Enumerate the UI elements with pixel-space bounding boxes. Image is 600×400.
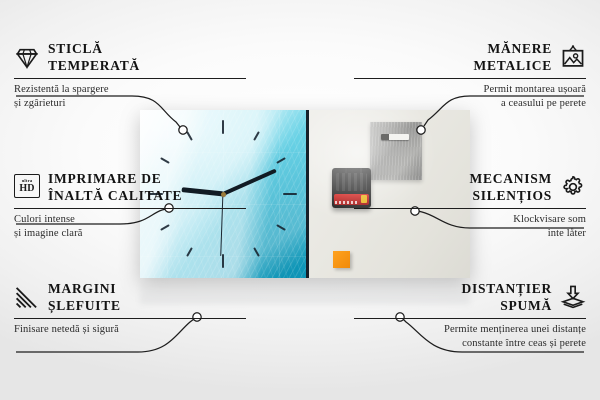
- callout-subtitle-line2: constante între ceas și perete: [462, 338, 586, 349]
- diamond-icon: [14, 44, 40, 70]
- callout-title: MARGINI ȘLEFUITE: [48, 280, 121, 315]
- callout-subtitle-line1: Klockvisare som: [513, 214, 586, 225]
- callout-title: MECANISM SILENȚIOS: [470, 170, 552, 205]
- callout-subtitle-line2: a ceasului pe perete: [501, 98, 586, 109]
- callout-subtitle: Permit montarea ușoară a ceasului pe per…: [354, 83, 586, 111]
- picture-frame-hanger-icon: [560, 44, 586, 70]
- callout-divider: [14, 78, 246, 79]
- callout-header: MECANISM SILENȚIOS: [354, 170, 586, 205]
- clock-tick: [276, 157, 286, 164]
- clock-tick: [186, 131, 193, 141]
- callout-subtitle-line1: Permite menținerea unei distanțe: [444, 324, 586, 335]
- callout-header: MARGINI ȘLEFUITE: [14, 280, 246, 315]
- feature-callout-handles: MĂNERE METALICE Permit montarea ușoară a…: [354, 40, 586, 111]
- callout-subtitle: Rezistentă la spargere și zgârieturi: [14, 83, 246, 111]
- callout-title: MĂNERE METALICE: [474, 40, 552, 75]
- ultra-hd-box: ultra HD: [14, 174, 40, 198]
- callout-subtitle-line1: Rezistentă la spargere: [14, 84, 109, 95]
- callout-divider: [14, 318, 246, 319]
- feature-callout-glass: STICLĂ TEMPERATĂ Rezistentă la spargere …: [14, 40, 246, 111]
- infographic-canvas: STICLĂ TEMPERATĂ Rezistentă la spargere …: [0, 0, 600, 400]
- callout-title-line1: DISTANȚIER: [462, 281, 552, 296]
- callout-subtitle: Finisare netedă și sigură: [14, 323, 246, 337]
- callout-title-line1: MARGINI: [48, 281, 116, 296]
- callout-subtitle: Permite menținerea unei distanțe constan…: [354, 323, 586, 351]
- callout-title: IMPRIMARE DE ÎNALTĂ CALITATE: [48, 170, 182, 205]
- callout-divider: [354, 78, 586, 79]
- ultra-hd-icon: ultra HD: [14, 174, 40, 200]
- clock-tick: [283, 193, 297, 195]
- callout-subtitle-line1: Permit montarea ușoară: [484, 84, 587, 95]
- feature-callout-spacer: DISTANȚIER SPUMĂ Permite menținerea unei…: [354, 280, 586, 351]
- ultra-hd-big-label: HD: [19, 184, 34, 194]
- callout-subtitle-line1: Finisare netedă și sigură: [14, 324, 119, 335]
- callout-title-line2: ȘLEFUITE: [48, 298, 121, 313]
- callout-subtitle-line2: inte låter: [548, 228, 586, 239]
- foam-spacer-part: [333, 251, 350, 268]
- callout-title-line1: STICLĂ: [48, 41, 103, 56]
- callout-title-line2: METALICE: [474, 58, 552, 73]
- clock-tick: [253, 247, 260, 257]
- callout-title-line2: SILENȚIOS: [473, 188, 552, 203]
- callout-title-line2: TEMPERATĂ: [48, 58, 140, 73]
- feature-callout-print: ultra HD IMPRIMARE DE ÎNALTĂ CALITATE Cu…: [14, 170, 246, 241]
- beveled-edge-icon: [14, 284, 40, 310]
- callout-title-line2: ÎNALTĂ CALITATE: [48, 188, 182, 203]
- clock-tick: [222, 120, 224, 134]
- callout-header: MĂNERE METALICE: [354, 40, 586, 75]
- callout-subtitle: Culori intense și imagine clară: [14, 213, 246, 241]
- callout-divider: [354, 208, 586, 209]
- hanger-strip: [381, 134, 409, 140]
- callout-title-line2: SPUMĂ: [500, 298, 552, 313]
- feature-callout-mechanism: MECANISM SILENȚIOS Klockvisare som inte …: [354, 170, 586, 241]
- arrow-onto-layers-icon: [560, 284, 586, 310]
- callout-title: DISTANȚIER SPUMĂ: [462, 280, 552, 315]
- callout-subtitle-line2: și zgârieturi: [14, 98, 66, 109]
- callout-header: ultra HD IMPRIMARE DE ÎNALTĂ CALITATE: [14, 170, 246, 205]
- callout-subtitle-line1: Culori intense: [14, 214, 75, 225]
- callout-subtitle: Klockvisare som inte låter: [354, 213, 586, 241]
- clock-tick: [160, 157, 170, 164]
- clock-tick: [222, 254, 224, 268]
- clock-tick: [186, 247, 193, 257]
- callout-divider: [14, 208, 246, 209]
- callout-divider: [354, 318, 586, 319]
- callout-title-line1: MECANISM: [470, 171, 552, 186]
- callout-header: STICLĂ TEMPERATĂ: [14, 40, 246, 75]
- clock-tick: [276, 224, 286, 231]
- callout-subtitle-line2: și imagine clară: [14, 228, 83, 239]
- callout-header: DISTANȚIER SPUMĂ: [354, 280, 586, 315]
- gear-icon: [560, 174, 586, 200]
- callout-title-line1: MĂNERE: [488, 41, 552, 56]
- callout-title: STICLĂ TEMPERATĂ: [48, 40, 140, 75]
- feature-callout-edges: MARGINI ȘLEFUITE Finisare netedă și sigu…: [14, 280, 246, 337]
- callout-title-line1: IMPRIMARE DE: [48, 171, 162, 186]
- clock-tick: [253, 131, 260, 141]
